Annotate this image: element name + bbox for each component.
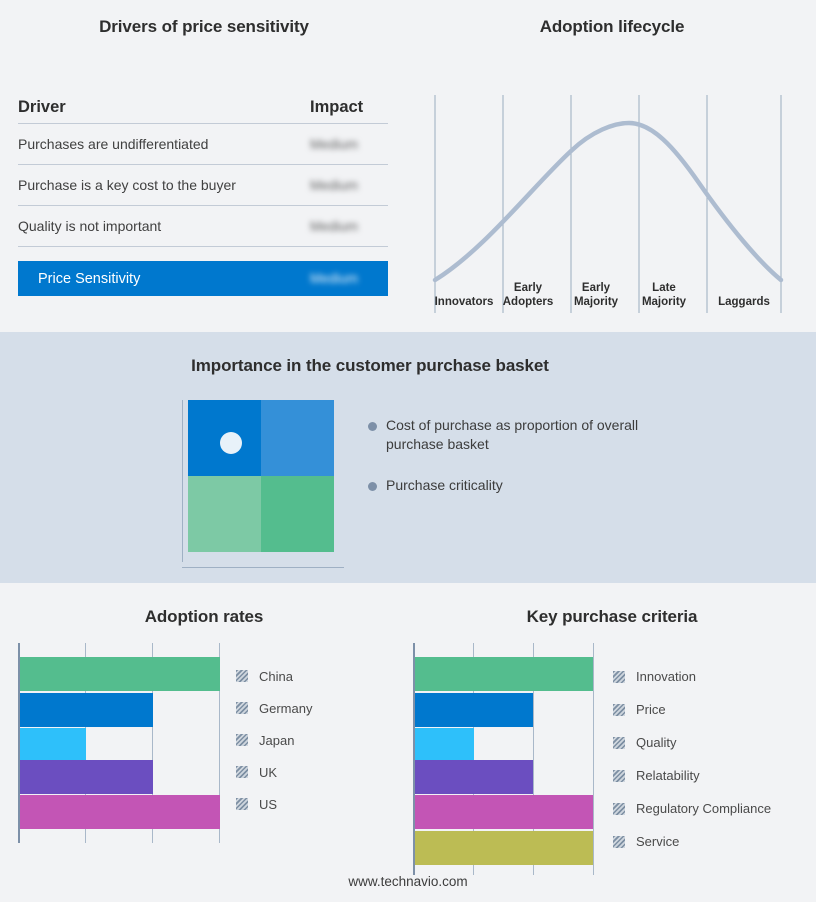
drivers-table: Driver Impact Purchases are undifferenti… — [18, 92, 388, 296]
segment-line2: Majority — [558, 295, 634, 309]
impact-value: Medium — [310, 136, 388, 152]
legend-item-uk: UK — [236, 756, 312, 788]
driver-label: Quality is not important — [18, 218, 169, 234]
bar-service — [415, 831, 593, 865]
drivers-panel-title: Drivers of price sensitivity — [0, 17, 408, 37]
lifecycle-panel: Adoption lifecycle Innovators Early Adop… — [408, 0, 816, 332]
segment-line1: Early — [490, 281, 566, 295]
adoption-plot-area — [18, 643, 223, 843]
lifecycle-segment-label: Laggards — [708, 295, 780, 309]
price-sensitivity-summary-row: Price Sensitivity Medium — [18, 261, 388, 296]
summary-impact-redacted: Medium — [310, 271, 358, 286]
legend-label: Relatability — [636, 768, 700, 783]
hatched-swatch-icon — [613, 737, 625, 749]
summary-impact-value: Medium — [310, 271, 388, 287]
quadrant-y-axis — [182, 400, 183, 562]
bar-relatability — [415, 760, 533, 794]
lifecycle-bell-curve — [435, 123, 781, 280]
bar-innovation — [415, 657, 593, 691]
legend-item-quality: Quality — [613, 726, 771, 759]
legend-item: Purchase criticality — [368, 476, 668, 495]
table-row: Purchases are undifferentiated Medium — [18, 124, 388, 165]
segment-line2: Laggards — [708, 295, 780, 309]
legend-item-label: Purchase criticality — [386, 476, 503, 495]
criteria-gridline — [593, 643, 594, 875]
legend-label: Japan — [259, 733, 294, 748]
hatched-swatch-icon — [236, 734, 248, 746]
bar-regulatory-compliance — [415, 795, 593, 829]
importance-panel: Importance in the customer purchase bask… — [0, 332, 816, 583]
legend-item: Cost of purchase as proportion of overal… — [368, 416, 668, 454]
table-row: Purchase is a key cost to the buyer Medi… — [18, 165, 388, 206]
segment-line2: Majority — [626, 295, 702, 309]
adoption-lifecycle-chart: Innovators Early Adopters Early Majority… — [424, 75, 804, 313]
table-header-row: Driver Impact — [18, 92, 388, 124]
segment-line1: Early — [558, 281, 634, 295]
impact-value: Medium — [310, 177, 388, 193]
lifecycle-segment-label: Early Adopters — [490, 281, 566, 309]
summary-label: Price Sensitivity — [38, 271, 148, 287]
footer-url: www.technavio.com — [0, 874, 816, 889]
adoption-rates-chart: China Germany Japan UK US — [18, 643, 388, 843]
legend-label: Regulatory Compliance — [636, 801, 771, 816]
column-header-driver: Driver — [18, 98, 74, 117]
legend-label: Innovation — [636, 669, 696, 684]
bar-quality — [415, 728, 474, 762]
quadrant-x-axis — [182, 567, 344, 568]
bar-germany — [20, 693, 153, 727]
importance-legend: Cost of purchase as proportion of overal… — [368, 416, 668, 517]
impact-value-redacted: Medium — [310, 178, 358, 193]
importance-panel-title: Importance in the customer purchase bask… — [0, 356, 740, 376]
legend-label: Price — [636, 702, 666, 717]
legend-label: US — [259, 797, 277, 812]
criteria-panel-title: Key purchase criteria — [408, 607, 816, 627]
legend-item-japan: Japan — [236, 724, 312, 756]
bar-japan — [20, 728, 86, 762]
legend-item-label: Cost of purchase as proportion of overal… — [386, 416, 646, 454]
criteria-plot-area — [413, 643, 598, 875]
legend-item-innovation: Innovation — [613, 660, 771, 693]
quadrant-top-right — [261, 400, 334, 476]
driver-label: Purchase is a key cost to the buyer — [18, 177, 244, 193]
hatched-swatch-icon — [613, 671, 625, 683]
adoption-rates-panel: Adoption rates China Germany Ja — [0, 583, 408, 902]
table-row: Quality is not important Medium — [18, 206, 388, 247]
bar-price — [415, 693, 533, 727]
quadrant-grid — [188, 400, 334, 552]
legend-item-regulatory-compliance: Regulatory Compliance — [613, 792, 771, 825]
segment-line2: Adopters — [490, 295, 566, 309]
hatched-swatch-icon — [613, 836, 625, 848]
bar-us — [20, 795, 220, 829]
quadrant-top-left — [188, 400, 261, 476]
hatched-swatch-icon — [613, 704, 625, 716]
adoption-panel-title: Adoption rates — [0, 607, 408, 627]
impact-value-redacted: Medium — [310, 219, 358, 234]
hatched-swatch-icon — [236, 798, 248, 810]
lifecycle-curve-svg — [424, 75, 804, 313]
key-purchase-criteria-panel: Key purchase criteria Innovation Price — [408, 583, 816, 902]
quadrant-position-marker — [220, 432, 242, 454]
criteria-legend: Innovation Price Quality Relatability Re… — [613, 660, 771, 858]
quadrant-bottom-right — [261, 476, 334, 552]
legend-label: Service — [636, 834, 679, 849]
hatched-swatch-icon — [236, 670, 248, 682]
bullet-dot-icon — [368, 482, 377, 491]
bullet-dot-icon — [368, 422, 377, 431]
purchase-basket-quadrant-chart — [182, 400, 346, 568]
impact-value-redacted: Medium — [310, 137, 358, 152]
lifecycle-panel-title: Adoption lifecycle — [408, 17, 816, 37]
quadrant-bottom-left — [188, 476, 261, 552]
legend-item-price: Price — [613, 693, 771, 726]
hatched-swatch-icon — [613, 803, 625, 815]
legend-item-service: Service — [613, 825, 771, 858]
legend-item-us: US — [236, 788, 312, 820]
legend-label: China — [259, 669, 293, 684]
drivers-panel: Drivers of price sensitivity Driver Impa… — [0, 0, 408, 332]
bar-china — [20, 657, 220, 691]
legend-label: Germany — [259, 701, 312, 716]
adoption-legend: China Germany Japan UK US — [236, 660, 312, 820]
bar-uk — [20, 760, 153, 794]
legend-label: UK — [259, 765, 277, 780]
legend-label: Quality — [636, 735, 676, 750]
lifecycle-segment-label: Early Majority — [558, 281, 634, 309]
legend-item-relatability: Relatability — [613, 759, 771, 792]
lifecycle-segment-label: Late Majority — [626, 281, 702, 309]
hatched-swatch-icon — [613, 770, 625, 782]
impact-value: Medium — [310, 218, 388, 234]
segment-line1: Late — [626, 281, 702, 295]
driver-label: Purchases are undifferentiated — [18, 136, 216, 152]
hatched-swatch-icon — [236, 766, 248, 778]
hatched-swatch-icon — [236, 702, 248, 714]
legend-item-germany: Germany — [236, 692, 312, 724]
legend-item-china: China — [236, 660, 312, 692]
column-header-impact: Impact — [310, 98, 388, 117]
key-purchase-criteria-chart: Innovation Price Quality Relatability Re… — [413, 643, 813, 875]
